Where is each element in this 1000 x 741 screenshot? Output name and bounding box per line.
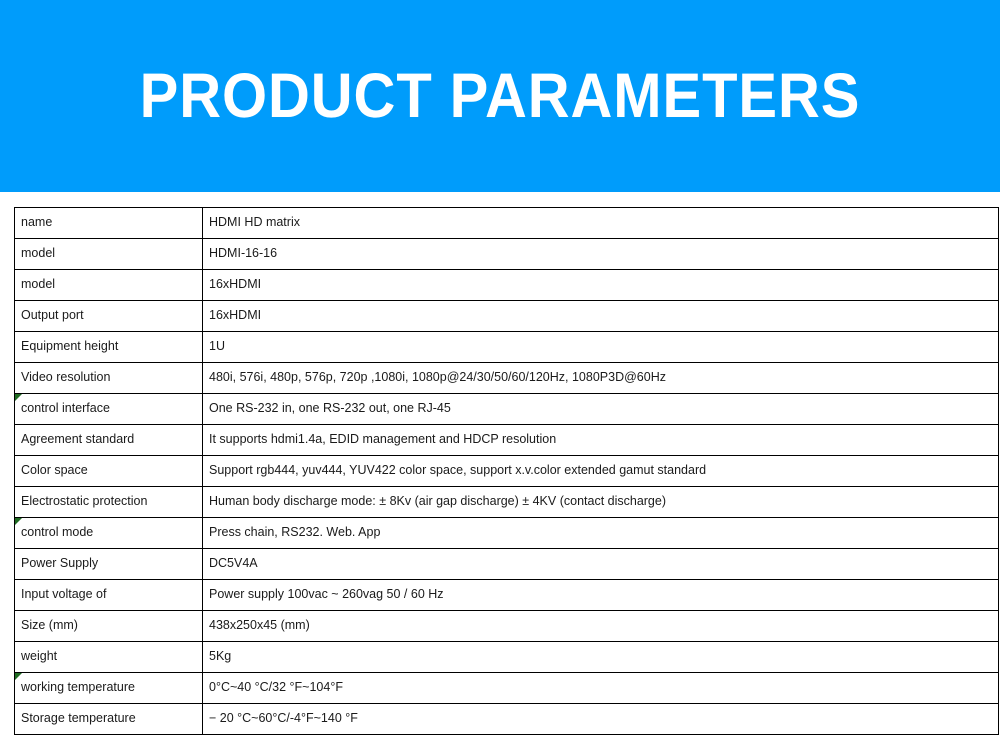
parameter-name-cell: Output port: [15, 301, 203, 332]
table-row: Color spaceSupport rgb444, yuv444, YUV42…: [15, 456, 999, 487]
parameter-name-cell: Size (mm): [15, 611, 203, 642]
parameter-name-cell: control mode: [15, 518, 203, 549]
parameter-name-cell: control interface: [15, 394, 203, 425]
table-row: Agreement standardIt supports hdmi1.4a, …: [15, 425, 999, 456]
parameter-name-cell: name: [15, 208, 203, 239]
parameter-name-cell: model: [15, 239, 203, 270]
parameter-value-cell: DC5V4A: [203, 549, 999, 580]
parameter-value-cell: Press chain, RS232. Web. App: [203, 518, 999, 549]
table-row: working temperature0°C~40 °C/32 °F~104°F: [15, 673, 999, 704]
page-title: PRODUCT PARAMETERS: [40, 0, 960, 192]
product-parameters-table: nameHDMI HD matrixmodelHDMI-16-16model16…: [14, 207, 999, 735]
table-row: Video resolution480i, 576i, 480p, 576p, …: [15, 363, 999, 394]
parameter-value-cell: 438x250x45 (mm): [203, 611, 999, 642]
table-row: Equipment height1U: [15, 332, 999, 363]
parameter-name-cell: Video resolution: [15, 363, 203, 394]
product-parameters-table-container: nameHDMI HD matrixmodelHDMI-16-16model16…: [14, 207, 986, 735]
table-row: weight5Kg: [15, 642, 999, 673]
parameter-name-cell: Electrostatic protection: [15, 487, 203, 518]
parameter-name-cell: Storage temperature: [15, 704, 203, 735]
parameter-name-cell: model: [15, 270, 203, 301]
table-row: nameHDMI HD matrix: [15, 208, 999, 239]
parameter-name-cell: Input voltage of: [15, 580, 203, 611]
parameter-value-cell: 16xHDMI: [203, 301, 999, 332]
parameter-value-cell: HDMI-16-16: [203, 239, 999, 270]
parameter-value-cell: 5Kg: [203, 642, 999, 673]
parameter-name-cell: Power Supply: [15, 549, 203, 580]
parameter-name-cell: weight: [15, 642, 203, 673]
parameter-value-cell: 1U: [203, 332, 999, 363]
table-body: nameHDMI HD matrixmodelHDMI-16-16model16…: [15, 208, 999, 735]
parameter-value-cell: HDMI HD matrix: [203, 208, 999, 239]
table-row: control modePress chain, RS232. Web. App: [15, 518, 999, 549]
parameter-value-cell: One RS-232 in, one RS-232 out, one RJ-45: [203, 394, 999, 425]
table-row: Power SupplyDC5V4A: [15, 549, 999, 580]
parameter-value-cell: 480i, 576i, 480p, 576p, 720p ,1080i, 108…: [203, 363, 999, 394]
table-row: Output port16xHDMI: [15, 301, 999, 332]
table-row: modelHDMI-16-16: [15, 239, 999, 270]
parameter-value-cell: Power supply 100vac ~ 260vag 50 / 60 Hz: [203, 580, 999, 611]
table-row: model16xHDMI: [15, 270, 999, 301]
parameter-value-cell: Support rgb444, yuv444, YUV422 color spa…: [203, 456, 999, 487]
table-row: control interfaceOne RS-232 in, one RS-2…: [15, 394, 999, 425]
parameter-name-cell: Equipment height: [15, 332, 203, 363]
table-row: Storage temperature− 20 °C~60°C/-4°F~140…: [15, 704, 999, 735]
table-row: Electrostatic protectionHuman body disch…: [15, 487, 999, 518]
parameter-value-cell: 16xHDMI: [203, 270, 999, 301]
table-row: Size (mm)438x250x45 (mm): [15, 611, 999, 642]
parameter-value-cell: It supports hdmi1.4a, EDID management an…: [203, 425, 999, 456]
page-header-banner: PRODUCT PARAMETERS: [0, 0, 1000, 192]
parameter-name-cell: Color space: [15, 456, 203, 487]
parameter-name-cell: working temperature: [15, 673, 203, 704]
parameter-name-cell: Agreement standard: [15, 425, 203, 456]
table-row: Input voltage ofPower supply 100vac ~ 26…: [15, 580, 999, 611]
parameter-value-cell: Human body discharge mode: ± 8Kv (air ga…: [203, 487, 999, 518]
parameter-value-cell: − 20 °C~60°C/-4°F~140 °F: [203, 704, 999, 735]
parameter-value-cell: 0°C~40 °C/32 °F~104°F: [203, 673, 999, 704]
